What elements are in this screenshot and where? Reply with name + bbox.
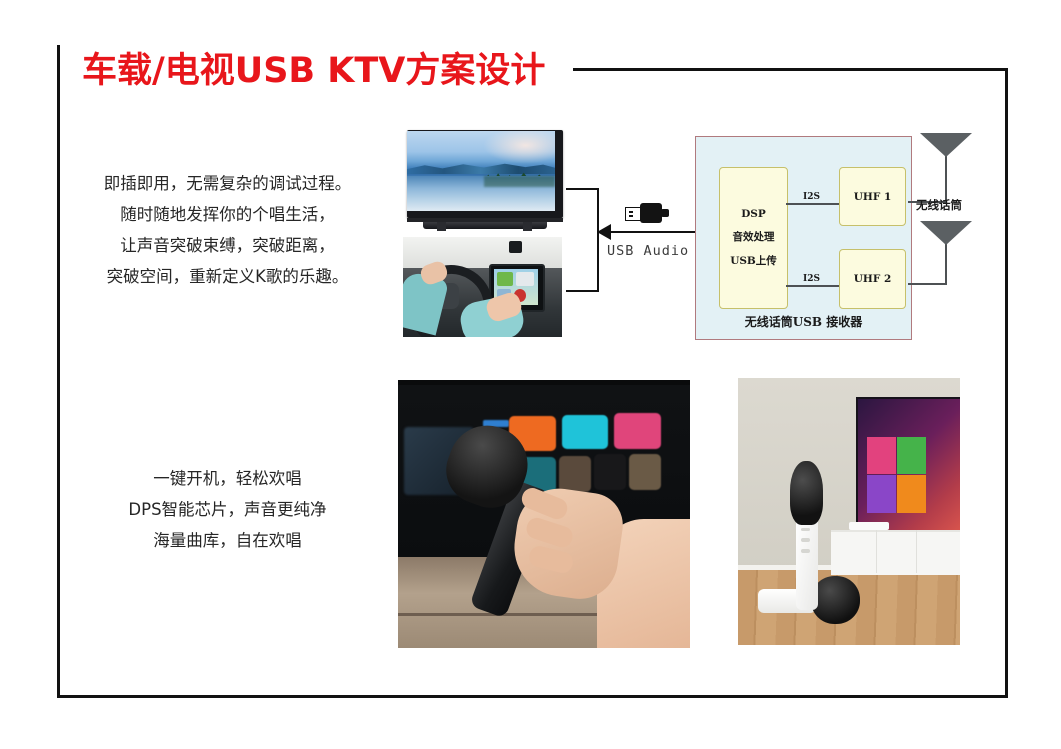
- frame-border-left: [57, 45, 60, 698]
- dsp-label-3: USB上传: [730, 253, 777, 268]
- mcp-tile-6: [594, 454, 626, 490]
- frame-border-top: [573, 68, 1008, 71]
- receiver-block-diagram: DSP 音效处理 USB上传 I2S I2S UHF 1 UHF 2 无线话筒U…: [695, 136, 912, 340]
- car-phone-mount: [509, 241, 522, 253]
- usb-plug-pin-1: [629, 211, 633, 213]
- copy-top-line-2: 随时随地发挥你的个唱生活，: [75, 199, 380, 230]
- uhf1-block: UHF 1: [839, 167, 906, 226]
- usb-audio-label: USB Audio: [607, 243, 689, 259]
- wire-usb-audio-link: [598, 231, 697, 233]
- lv-microphone-1-foam-head: [790, 461, 823, 525]
- i2s-label-2: I2S: [800, 274, 823, 284]
- tv-photo: [403, 128, 569, 232]
- lv-tv-tile-1: [867, 437, 896, 474]
- i2s-line-2: [786, 285, 839, 287]
- i2s-label-1: I2S: [800, 192, 823, 202]
- feature-copy-bottom: 一键开机，轻松欢唱 DPS智能芯片，声音更纯净 海量曲库，自在欢唱: [75, 463, 380, 556]
- copy-bottom-line-1: 一键开机，轻松欢唱: [75, 463, 380, 494]
- usb-plug-icon: [625, 203, 669, 223]
- lv-soundbar: [849, 522, 889, 530]
- lv-cabinet-seam-1: [876, 530, 878, 573]
- mcp-tile-5: [559, 456, 591, 492]
- lv-microphone-2-foam-head: [811, 576, 860, 624]
- car-ui-tile-1: [497, 272, 513, 286]
- copy-top-line-3: 让声音突破束缚，突破距离，: [75, 230, 380, 261]
- lv-mic-button-1: [801, 528, 810, 532]
- tv-foot-right: [523, 222, 532, 231]
- lv-mic-button-2: [801, 538, 810, 542]
- usb-plug-pin-2: [629, 215, 633, 217]
- car-interior-photo: [403, 237, 562, 337]
- wire-vertical-bus: [597, 188, 599, 292]
- mcp-tile-2: [562, 415, 609, 449]
- lv-tv-tile-4: [897, 475, 926, 512]
- feature-copy-top: 即插即用，无需复杂的调试过程。 随时随地发挥你的个唱生活， 让声音突破束缚，突破…: [75, 168, 380, 292]
- wire-tv-branch: [566, 188, 599, 190]
- antenna-icon-1: [920, 133, 972, 157]
- tv-foot-left: [437, 222, 446, 231]
- arrow-left-icon: [597, 224, 611, 240]
- lv-tv-tile-2: [897, 437, 926, 474]
- lv-media-cabinet: [831, 530, 960, 575]
- i2s-line-1: [786, 203, 839, 205]
- car-ui-tile-2: [516, 272, 534, 286]
- lv-mic-button-3: [801, 549, 810, 553]
- frame-border-bottom: [57, 695, 1008, 698]
- dsp-label-1: DSP: [741, 208, 766, 220]
- usb-plug-body: [640, 203, 662, 223]
- page-title: 车载/电视USB KTV方案设计: [82, 42, 545, 93]
- living-room-photo: [738, 378, 960, 645]
- copy-top-line-4: 突破空间，重新定义K歌的乐趣。: [75, 261, 380, 292]
- copy-bottom-line-3: 海量曲库，自在欢唱: [75, 525, 380, 556]
- dsp-label-2: 音效处理: [733, 229, 775, 244]
- lv-tv-tile-3: [867, 475, 896, 512]
- dsp-block: DSP 音效处理 USB上传: [719, 167, 788, 309]
- tv-mountain-layer: [407, 161, 555, 174]
- usb-plug-tail: [661, 209, 669, 217]
- antenna-icon-2: [920, 221, 972, 245]
- wire-car-branch: [566, 290, 599, 292]
- lv-cabinet-seam-2: [916, 530, 918, 573]
- diagram-caption: 无线话筒USB 接收器: [696, 313, 911, 330]
- antenna-stem-2: [945, 243, 947, 285]
- frame-border-right: [1005, 68, 1008, 698]
- copy-top-line-1: 即插即用，无需复杂的调试过程。: [75, 168, 380, 199]
- antenna-icon-1-inner: [949, 157, 995, 178]
- antenna-stem-1: [945, 156, 947, 202]
- mcp-tile-3: [614, 413, 661, 449]
- wireless-mic-label: 无线话筒: [916, 197, 962, 213]
- antenna-wire-2: [908, 283, 947, 285]
- tv-reflection-layer: [484, 176, 555, 187]
- tv-screen-landscape: [407, 131, 555, 211]
- copy-bottom-line-2: DPS智能芯片，声音更纯净: [75, 494, 380, 525]
- uhf2-block: UHF 2: [839, 249, 906, 309]
- mcp-tile-7: [629, 454, 661, 490]
- mic-in-car-photo: [398, 380, 690, 648]
- antenna-icon-2-inner: [949, 245, 995, 266]
